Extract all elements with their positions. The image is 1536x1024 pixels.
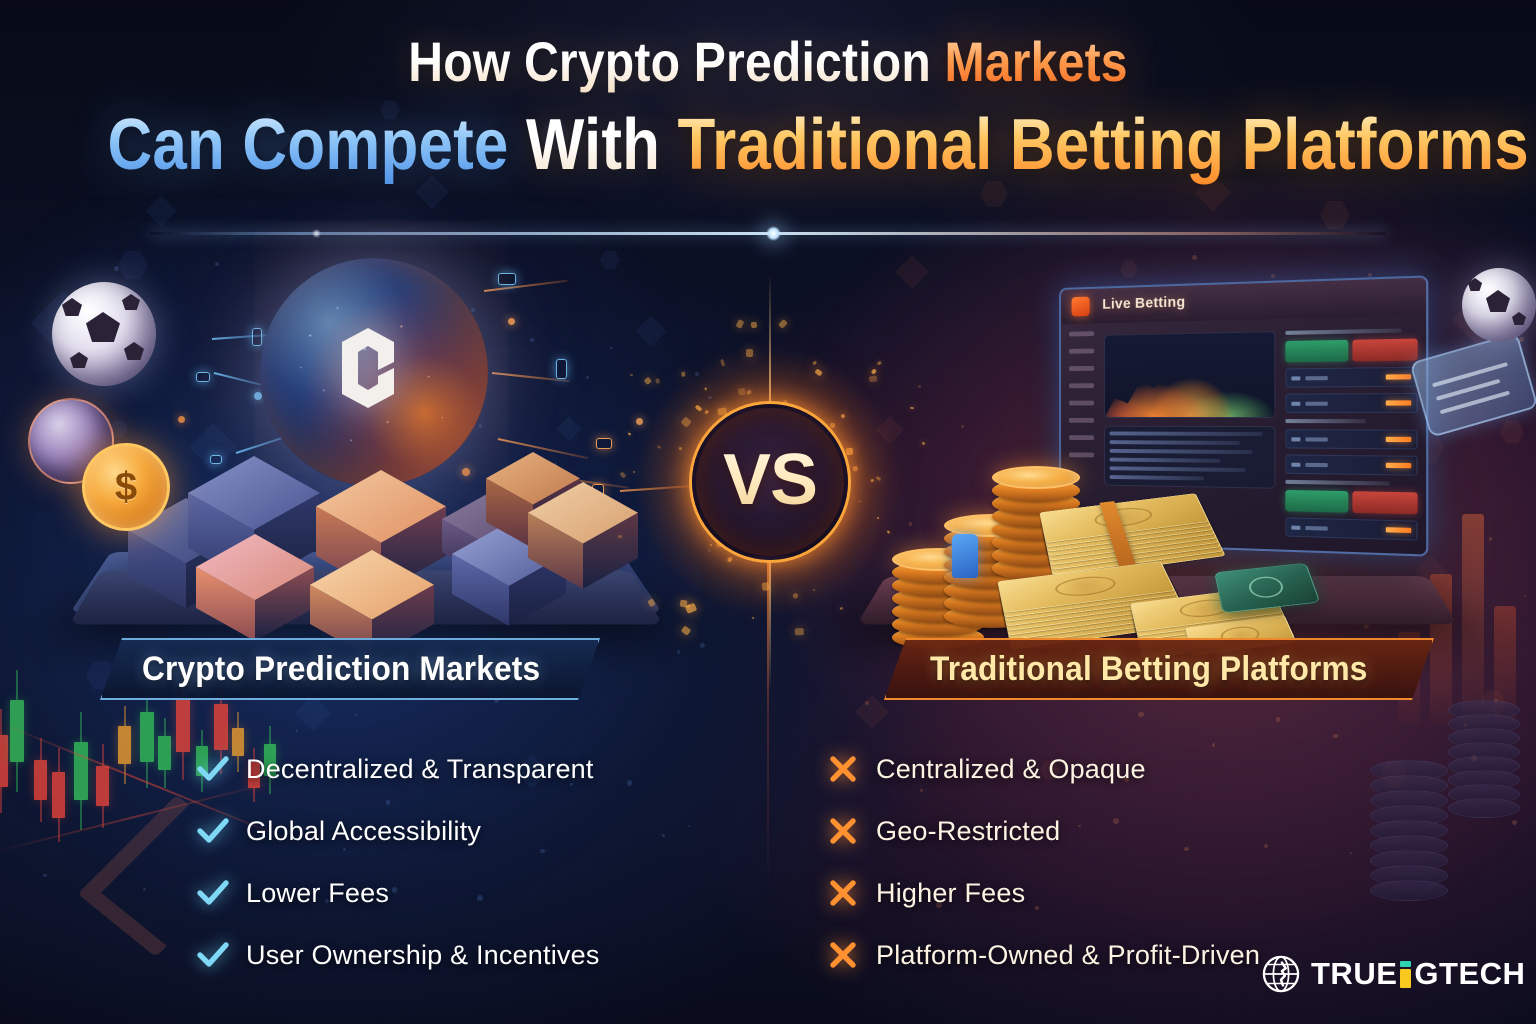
brand-logo[interactable]: TRUE GTECH <box>1262 955 1525 993</box>
check-icon <box>196 876 230 910</box>
background-dot <box>355 714 357 716</box>
vs-beam-bottom <box>769 562 771 692</box>
list-item: Decentralized & Transparent <box>196 738 756 800</box>
spark-particle <box>704 387 707 391</box>
spark-particle <box>795 628 804 635</box>
background-dot <box>471 308 475 312</box>
background-dot <box>1138 712 1144 718</box>
background-dot <box>1512 820 1517 825</box>
feature-label: Global Accessibility <box>246 816 481 847</box>
feature-list-crypto: Decentralized & Transparent Global Acces… <box>196 738 756 986</box>
candlestick <box>176 696 190 752</box>
vs-label: VS <box>723 439 817 521</box>
background-dot <box>114 266 119 271</box>
feature-label: Platform-Owned & Profit-Driven <box>876 940 1260 971</box>
network-dot <box>178 416 185 423</box>
spark-particle <box>630 374 633 376</box>
spark-particle <box>738 387 746 395</box>
divider-node-left <box>312 229 321 238</box>
background-dot <box>1489 537 1492 540</box>
background-coin <box>1448 798 1520 818</box>
spark-particle <box>846 447 854 455</box>
feature-label: Lower Fees <box>246 878 389 909</box>
list-item: Global Accessibility <box>196 800 756 862</box>
spark-particle <box>869 375 878 382</box>
candlestick <box>0 735 8 787</box>
feature-label: Centralized & Opaque <box>876 754 1146 785</box>
banner-traditional-label: Traditional Betting Platforms <box>930 650 1368 689</box>
banner-crypto-label: Crypto Prediction Markets <box>142 650 540 689</box>
title-line-2-accent: Traditional Betting Platforms <box>677 105 1528 185</box>
page-title: How Crypto Prediction Markets Can Compet… <box>0 28 1536 188</box>
title-line-1-primary: How Crypto Prediction <box>408 30 944 93</box>
background-dot <box>961 425 964 428</box>
spark-particle <box>746 349 753 358</box>
network-node <box>252 328 262 346</box>
background-dot <box>1276 717 1281 722</box>
background-dot <box>918 385 921 388</box>
candlestick <box>34 760 47 800</box>
banner-traditional[interactable]: Traditional Betting Platforms <box>884 638 1434 700</box>
spark-particle <box>617 534 621 537</box>
player-figurine <box>952 534 978 578</box>
coin-top <box>992 466 1080 489</box>
divider-node-center <box>766 226 781 241</box>
soccer-ball-icon-right <box>1462 268 1536 342</box>
candlestick-wick <box>164 718 166 788</box>
feature-label: Geo-Restricted <box>876 816 1060 847</box>
cross-icon <box>826 752 860 786</box>
coin-symbol: $ <box>115 465 137 510</box>
logo-text-before: TRUE <box>1311 956 1397 992</box>
list-item: Geo-Restricted <box>826 800 1386 862</box>
globe-icon <box>1262 955 1300 993</box>
logo-i-glyph <box>1400 961 1411 988</box>
list-item: User Ownership & Incentives <box>196 924 756 986</box>
background-dot <box>610 347 612 349</box>
network-node <box>196 372 210 382</box>
network-dot <box>508 318 515 325</box>
candlestick <box>158 736 171 770</box>
network-dot <box>462 468 470 476</box>
background-dot <box>677 650 680 653</box>
cross-icon <box>826 876 860 910</box>
check-icon <box>196 752 230 786</box>
network-node <box>596 438 612 449</box>
network-dot <box>254 392 262 400</box>
blockchain-cube <box>528 482 638 615</box>
list-item: Higher Fees <box>826 862 1386 924</box>
candlestick-wick <box>146 686 148 788</box>
logo-text-after: GTECH <box>1414 956 1525 992</box>
banner-crypto[interactable]: Crypto Prediction Markets <box>100 638 600 700</box>
dollar-coin-icon: $ <box>82 443 170 531</box>
title-line-1: How Crypto Prediction Markets <box>108 28 1429 96</box>
monitor-title: Live Betting <box>1102 294 1185 313</box>
candlestick-wick <box>102 744 104 828</box>
candlestick <box>118 726 131 764</box>
title-line-2-mid: With <box>526 105 678 185</box>
list-item: Centralized & Opaque <box>826 738 1386 800</box>
monitor-chart <box>1104 331 1275 418</box>
spark-particle <box>718 407 728 415</box>
network-node <box>556 359 567 379</box>
candlestick <box>140 712 154 762</box>
list-item: Lower Fees <box>196 862 756 924</box>
background-dot <box>1364 624 1369 629</box>
cross-icon <box>826 938 860 972</box>
soccer-ball-icon <box>52 282 156 386</box>
logo-wordmark: TRUE GTECH <box>1311 956 1525 992</box>
background-coin-stack <box>1448 700 1520 812</box>
network-node <box>498 273 516 285</box>
candlestick-wick <box>80 712 82 830</box>
title-line-2: Can Compete With Traditional Betting Pla… <box>108 102 1429 188</box>
candlestick-wick <box>40 738 42 822</box>
candlestick-wick <box>58 748 60 842</box>
spark-particle <box>870 478 873 482</box>
title-line-2-primary: Can Compete <box>108 105 526 185</box>
background-dot <box>1271 274 1275 278</box>
background-dot <box>215 262 219 266</box>
cross-icon <box>826 814 860 848</box>
check-icon <box>196 938 230 972</box>
background-bar <box>1462 514 1484 724</box>
background-dot <box>909 522 913 526</box>
background-dot <box>530 338 534 342</box>
background-dot <box>296 729 298 731</box>
feature-label: User Ownership & Incentives <box>246 940 600 971</box>
candlestick <box>52 772 65 818</box>
vs-badge: VS <box>692 404 848 560</box>
feature-label: Higher Fees <box>876 878 1025 909</box>
title-line-1-accent: Markets <box>945 30 1128 93</box>
spark-particle <box>681 371 686 376</box>
feature-list-traditional: Centralized & Opaque Geo-Restricted High… <box>826 738 1386 986</box>
check-icon <box>196 814 230 848</box>
infographic-canvas: How Crypto Prediction Markets Can Compet… <box>0 0 1536 1024</box>
monitor-brand-icon <box>1072 297 1090 317</box>
candlestick <box>74 742 88 800</box>
monitor-table <box>1104 426 1275 489</box>
feature-label: Decentralized & Transparent <box>246 754 594 785</box>
chain-link-icon <box>300 318 450 430</box>
monitor-odds-panel <box>1285 328 1417 546</box>
vs-beam-top <box>769 272 771 402</box>
candlestick <box>96 766 109 806</box>
